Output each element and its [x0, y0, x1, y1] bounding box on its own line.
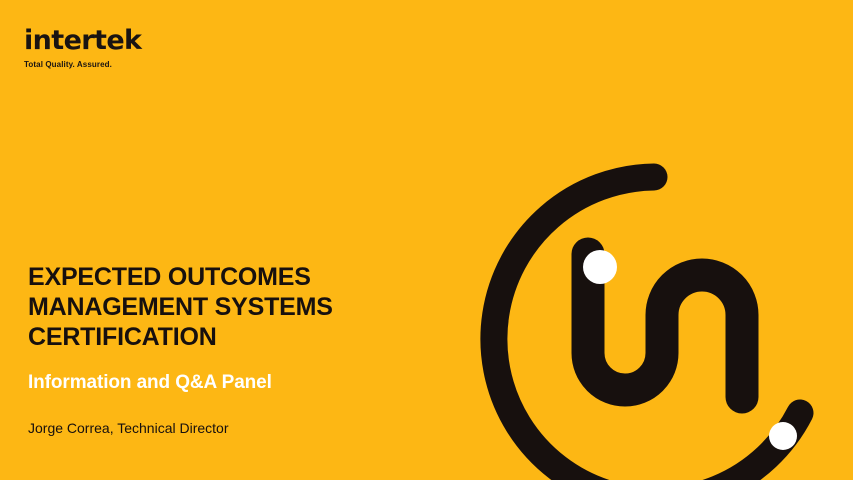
intertek-logo: intertek Total Quality. Assured.: [24, 26, 224, 78]
page-subtitle: Information and Q&A Panel: [28, 371, 468, 395]
intertek-monogram-icon: [470, 155, 853, 480]
page-title-line-2: MANAGEMENT SYSTEMS: [28, 292, 468, 322]
brand-wordmark: intertek: [24, 26, 224, 56]
page-title-line-3: CERTIFICATION: [28, 322, 468, 352]
presenter-byline: Jorge Correa, Technical Director: [28, 419, 468, 438]
page-title-line-1: EXPECTED OUTCOMES: [28, 262, 468, 292]
brand-tagline: Total Quality. Assured.: [24, 60, 224, 70]
title-slide: intertek Total Quality. Assured. EXPECTE…: [0, 0, 853, 480]
title-block: EXPECTED OUTCOMES MANAGEMENT SYSTEMS CER…: [28, 262, 468, 438]
